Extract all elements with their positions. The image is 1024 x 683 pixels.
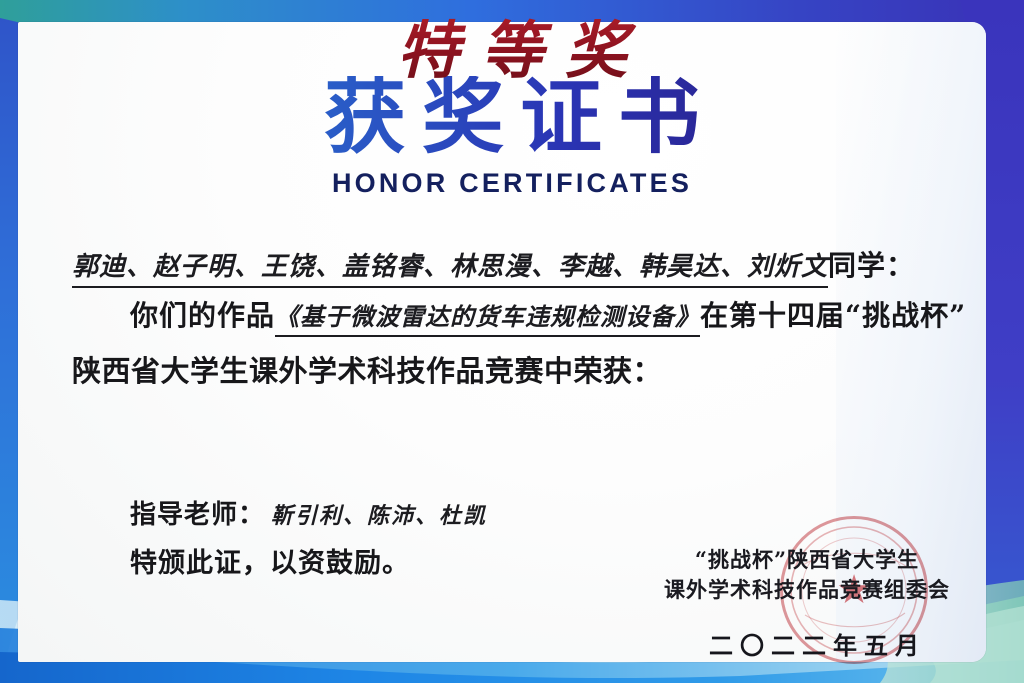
certificate-image: 获奖证书 HONOR CERTIFICATES 郭迪、赵子明、王饶、盖铭睿、林思… [0, 0, 1024, 683]
competition-line: 陕西省大学生课外学术科技作品竞赛中荣获： [72, 348, 662, 390]
recipient-suffix: 同学： [828, 249, 915, 282]
issuer-line-2: 课外学术科技作品竞赛组委会 [664, 575, 950, 605]
certificate-body: 郭迪、赵子明、王饶、盖铭睿、林思漫、李越、韩昊达、刘炘文同学： 你们的作品《基于… [0, 0, 1024, 683]
work-line: 你们的作品《基于微波雷达的货车违规检测设备》在第十四届“挑战杯” [130, 294, 966, 334]
issuer-signature-block: “挑战杯”陕西省大学生 课外学术科技作品竞赛组委会 [664, 545, 950, 605]
recipients-line: 郭迪、赵子明、王饶、盖铭睿、林思漫、李越、韩昊达、刘炘文同学： [72, 244, 915, 284]
work-suffix: 在第十四届“挑战杯” [700, 299, 966, 332]
advisors-line: 指导老师：靳引利、陈沛、杜凯 [130, 494, 487, 531]
issue-statement: 特颁此证，以资鼓励。 [130, 541, 410, 580]
issuer-line-1: “挑战杯”陕西省大学生 [664, 545, 950, 575]
award-level: 特等奖 [0, 0, 1024, 90]
work-prefix: 你们的作品 [130, 299, 275, 332]
advisor-names: 靳引利、陈沛、杜凯 [265, 503, 487, 529]
work-title: 《基于微波雷达的货车违规检测设备》 [275, 302, 700, 337]
recipient-names: 郭迪、赵子明、王饶、盖铭睿、林思漫、李越、韩昊达、刘炘文 [72, 252, 828, 288]
advisors-label: 指导老师： [130, 500, 265, 530]
issue-date: 二〇二二年五月 [709, 626, 926, 661]
